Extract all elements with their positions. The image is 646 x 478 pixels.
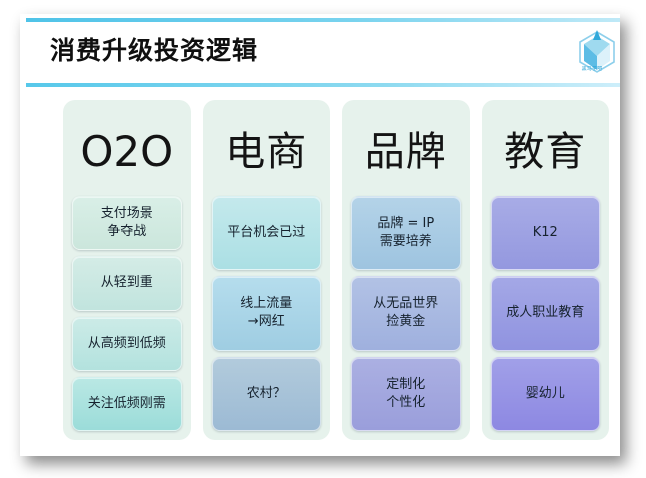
page-title: 消费升级投资逻辑 — [50, 31, 258, 71]
presentation-slide: 消费升级投资逻辑 黑马学吧 O2O — [20, 14, 620, 456]
card-line-1: 品牌 = IP — [377, 216, 434, 231]
card-line-1: 定制化 — [386, 377, 425, 392]
column-brand: 品牌 品牌 = IP 需要培养 从无品世界 捡黄金 — [342, 100, 470, 440]
card-line-1: 农村？ — [247, 386, 286, 401]
column-o2o: O2O 支付场景 争夺战 从轻到重 — [63, 100, 191, 440]
card-brand-1[interactable]: 品牌 = IP 需要培养 — [351, 196, 461, 270]
card-line-2: 争夺战 — [77, 223, 177, 241]
card-education-2[interactable]: 成人职业教育 — [491, 276, 601, 350]
card-line-2: 捡黄金 — [356, 313, 456, 331]
card-line-2: 需要培养 — [356, 233, 456, 251]
slide-canvas: 消费升级投资逻辑 黑马学吧 O2O — [0, 0, 646, 478]
card-line-1: 成人职业教育 — [506, 305, 584, 320]
logo-caption: 黑马学吧 — [570, 66, 614, 72]
card-line-1: 线上流量 — [240, 296, 292, 311]
card-o2o-4[interactable]: 关注低频刚需 — [72, 377, 182, 431]
card-list-brand: 品牌 = IP 需要培养 从无品世界 捡黄金 定制化 个性化 — [351, 196, 461, 431]
slide-header: 消费升级投资逻辑 黑马学吧 — [20, 14, 620, 88]
card-ecommerce-3[interactable]: 农村？ — [212, 357, 322, 431]
card-ecommerce-1[interactable]: 平台机会已过 — [212, 196, 322, 270]
header-rule-bottom — [26, 83, 620, 87]
column-heading-education: 教育 — [491, 108, 601, 196]
card-line-1: 关注低频刚需 — [88, 396, 166, 411]
card-line-1: 从高频到低频 — [88, 336, 166, 351]
card-line-2: 个性化 — [356, 394, 456, 412]
header-rule-top — [26, 18, 620, 22]
card-line-1: 从无品世界 — [373, 296, 438, 311]
card-list-education: K12 成人职业教育 婴幼儿 — [491, 196, 601, 431]
card-brand-2[interactable]: 从无品世界 捡黄金 — [351, 276, 461, 350]
column-heading-ecommerce: 电商 — [212, 108, 322, 196]
brand-star-logo-icon: 黑马学吧 — [568, 26, 620, 84]
card-line-1: 平台机会已过 — [227, 225, 305, 240]
card-line-2: →网红 — [217, 313, 317, 331]
column-ecommerce: 电商 平台机会已过 线上流量 →网红 — [203, 100, 331, 440]
card-o2o-2[interactable]: 从轻到重 — [72, 256, 182, 310]
card-education-3[interactable]: 婴幼儿 — [491, 357, 601, 431]
card-line-1: 从轻到重 — [101, 275, 153, 290]
card-brand-3[interactable]: 定制化 个性化 — [351, 357, 461, 431]
card-ecommerce-2[interactable]: 线上流量 →网红 — [212, 276, 322, 350]
card-line-1: 婴幼儿 — [526, 386, 565, 401]
card-line-1: 支付场景 — [101, 206, 153, 221]
card-education-1[interactable]: K12 — [491, 196, 601, 270]
category-columns: O2O 支付场景 争夺战 从轻到重 — [63, 100, 609, 440]
card-o2o-3[interactable]: 从高频到低频 — [72, 317, 182, 371]
card-list-ecommerce: 平台机会已过 线上流量 →网红 农村？ — [212, 196, 322, 431]
card-list-o2o: 支付场景 争夺战 从轻到重 从高频到低频 — [72, 196, 182, 431]
column-heading-o2o: O2O — [72, 108, 182, 196]
card-o2o-1[interactable]: 支付场景 争夺战 — [72, 196, 182, 250]
column-education: 教育 K12 成人职业教育 婴幼儿 — [482, 100, 610, 440]
card-line-1: K12 — [533, 225, 558, 240]
column-heading-brand: 品牌 — [351, 108, 461, 196]
